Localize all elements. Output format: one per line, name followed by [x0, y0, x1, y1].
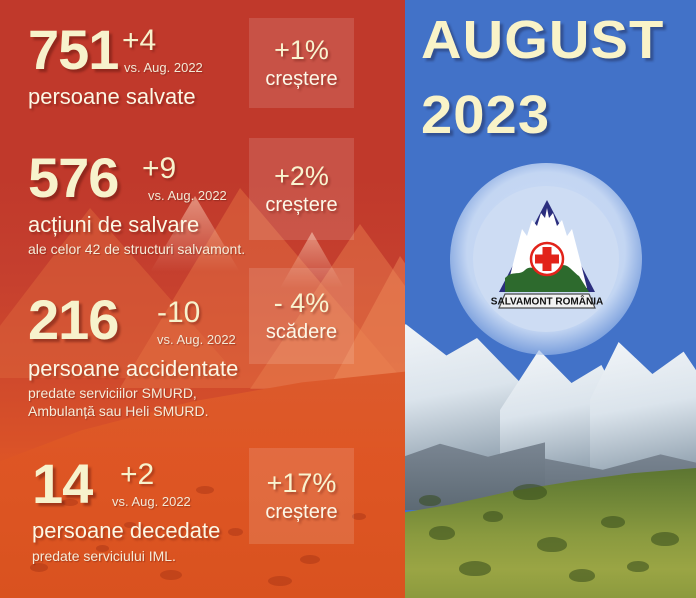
stat-delta: -10 — [157, 298, 200, 328]
vegetation-clump — [601, 516, 625, 528]
stat-sub: predate serviciilor SMURD, Ambulanță sau… — [28, 385, 209, 420]
stats-panel: 751 +4 vs. Aug. 2022 persoane salvate 57… — [0, 0, 405, 598]
stat-sub: ale celor 42 de structuri salvamont. — [28, 241, 245, 259]
vegetation-clump — [569, 569, 595, 582]
stat-delta: +9 — [142, 154, 176, 184]
terrain-speckle — [228, 528, 243, 536]
vegetation-clump — [513, 484, 547, 500]
percent-word: scădere — [266, 320, 337, 344]
vegetation-clump — [483, 511, 503, 522]
stat-label: persoane salvate — [28, 84, 196, 110]
title-year: 2023 — [421, 84, 550, 146]
title-month: AUGUST — [421, 14, 696, 67]
vegetation-clump — [459, 561, 491, 576]
stat-sub: predate serviciului IML. — [32, 548, 176, 566]
percent-value: - 4% — [274, 288, 330, 319]
stat-label: persoane decedate — [32, 518, 220, 544]
vegetation-clump — [429, 526, 455, 540]
terrain-speckle — [268, 576, 292, 586]
vegetation-clump — [537, 537, 567, 552]
stat-delta: +4 — [122, 26, 156, 56]
percent-card: +17% creștere — [249, 448, 354, 544]
stat-compare: vs. Aug. 2022 — [157, 332, 236, 347]
salvamont-logo-icon: SALVAMONT ROMÂNIA — [491, 196, 603, 312]
percent-word: creștere — [265, 193, 337, 217]
percent-value: +17% — [267, 468, 337, 499]
infographic-poster: 751 +4 vs. Aug. 2022 persoane salvate 57… — [0, 0, 696, 598]
stat-compare: vs. Aug. 2022 — [124, 60, 203, 75]
stat-delta: +2 — [120, 460, 154, 490]
percent-value: +2% — [274, 161, 329, 192]
logo-banner-text: SALVAMONT ROMÂNIA — [491, 295, 603, 308]
stat-value: 216 — [28, 292, 118, 348]
stat-compare: vs. Aug. 2022 — [112, 494, 191, 509]
stat-label: acțiuni de salvare — [28, 212, 199, 238]
terrain-speckle — [196, 486, 214, 494]
vegetation-clump — [627, 561, 649, 572]
stat-value: 751 — [28, 22, 118, 78]
stat-value: 576 — [28, 150, 118, 206]
vegetation-clump — [419, 495, 441, 506]
branding-panel: SALVAMONT ROMÂNIA AUGUST 2023 — [405, 0, 696, 598]
stat-value: 14 — [32, 456, 92, 512]
percent-card: +1% creștere — [249, 18, 354, 108]
percent-word: creștere — [265, 500, 337, 524]
percent-card: +2% creștere — [249, 138, 354, 240]
mountain-landscape-photo — [405, 320, 696, 598]
percent-value: +1% — [274, 35, 329, 66]
stat-label: persoane accidentate — [28, 356, 238, 382]
terrain-speckle — [352, 513, 366, 520]
percent-card: - 4% scădere — [249, 268, 354, 364]
percent-word: creștere — [265, 67, 337, 91]
vegetation-clump — [651, 532, 679, 546]
salvamont-logo: SALVAMONT ROMÂNIA — [491, 196, 603, 312]
terrain-speckle — [160, 570, 182, 580]
stat-compare: vs. Aug. 2022 — [148, 188, 227, 203]
terrain-speckle — [300, 555, 320, 564]
page-title: AUGUST — [421, 14, 696, 67]
